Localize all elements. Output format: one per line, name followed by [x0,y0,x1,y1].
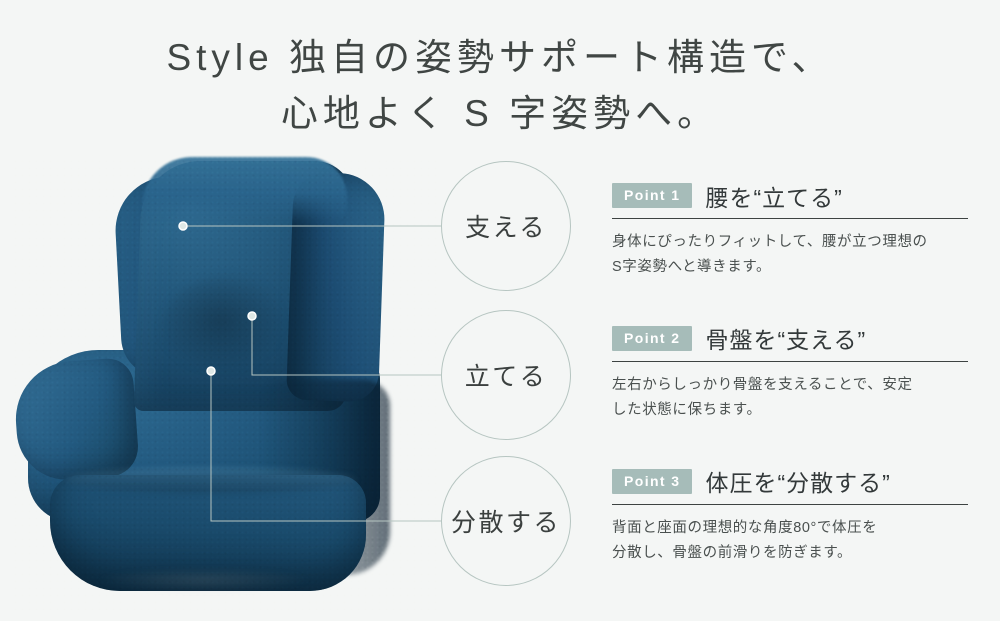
point-3-header: Point 3 体圧を“分散する” [612,468,968,495]
page-title: Style 独自の姿勢サポート構造で、 心地よく S 字姿勢へ。 [0,30,1000,142]
feature-circle-support: 支える [441,161,571,291]
feature-circle-label-2: 立てる [465,357,548,393]
point-3-body: 背面と座面の理想的な角度80°で体圧を 分散し、骨盤の前滑りを防ぎます。 [612,516,968,566]
point-2-header: Point 2 骨盤を“支える” [612,325,968,352]
point-2-body-line-2: した状態に保ちます。 [612,398,968,423]
headline-line-2: 心地よく S 字姿勢へ。 [0,86,1000,142]
product-image [10,155,440,610]
feature-circle-label-1: 支える [465,208,547,244]
point-2-badge: Point 2 [612,326,692,351]
headline-line-1: Style 独自の姿勢サポート構造で、 [0,30,1000,86]
cushion-seam [66,467,356,493]
point-2-body-line-1: 左右からしっかり骨盤を支えることで、安定 [612,373,968,398]
point-3-body-line-1: 背面と座面の理想的な角度80°で体圧を [612,516,968,541]
cushion-left-arm [12,357,140,483]
point-item-3: Point 3 体圧を“分散する” 背面と座面の理想的な角度80°で体圧を 分散… [612,468,968,566]
feature-circle-label-3: 分散する [451,503,561,539]
feature-circle-upright: 立てる [441,310,571,440]
point-1-body-line-1: 身体にぴったりフィットして、腰が立つ理想の [612,230,968,255]
cushion-lumbar-hollow [160,273,310,393]
point-item-1: Point 1 腰を“立てる” 身体にぴったりフィットして、腰が立つ理想の S字… [612,182,968,280]
point-1-divider [612,218,968,219]
posture-cushion-illustration [10,155,440,610]
point-1-body-line-2: S字姿勢へと導きます。 [612,255,968,280]
point-3-title: 体圧を“分散する” [705,464,890,498]
points-list: Point 1 腰を“立てる” 身体にぴったりフィットして、腰が立つ理想の S字… [612,182,968,566]
point-3-badge: Point 3 [612,469,692,494]
point-2-body: 左右からしっかり骨盤を支えることで、安定 した状態に保ちます。 [612,373,968,423]
point-2-title: 骨盤を“支える” [705,321,866,355]
point-1-body: 身体にぴったりフィットして、腰が立つ理想の S字姿勢へと導きます。 [612,230,968,280]
feature-circle-disperse: 分散する [441,456,571,586]
point-item-2: Point 2 骨盤を“支える” 左右からしっかり骨盤を支えることで、安定 した… [612,325,968,423]
point-1-title: 腰を“立てる” [705,179,842,213]
point-2-divider [612,361,968,362]
cushion-ground-shadow [54,563,354,597]
point-3-divider [612,504,968,505]
point-3-body-line-2: 分散し、骨盤の前滑りを防ぎます。 [612,541,968,566]
promo-page: Style 独自の姿勢サポート構造で、 心地よく S 字姿勢へ。 [0,0,1000,621]
cushion-top-highlight [142,157,347,223]
point-1-badge: Point 1 [612,183,692,208]
point-1-header: Point 1 腰を“立てる” [612,182,968,209]
